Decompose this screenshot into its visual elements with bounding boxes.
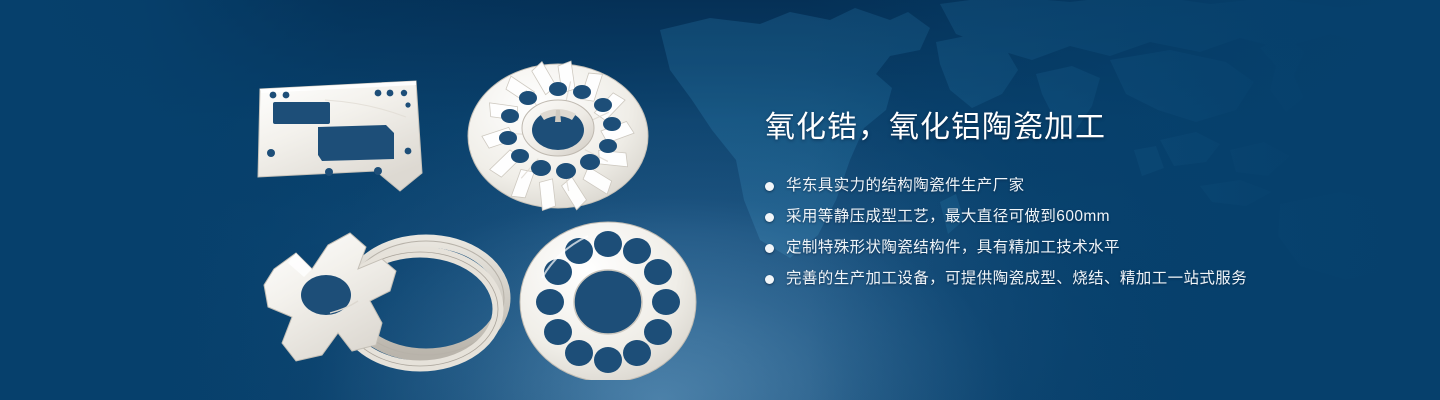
banner-copy: 氧化锆，氧化铝陶瓷加工 华东具实力的结构陶瓷件生产厂家 采用等静压成型工艺，最大… [765, 108, 1385, 298]
ceramic-products-image [230, 55, 700, 380]
bullet-dot-icon [765, 275, 774, 284]
ceramic-cross-and-rings-part [264, 233, 504, 366]
ceramic-plate-part [258, 81, 422, 191]
list-item-label: 采用等静压成型工艺，最大直径可做到600mm [786, 205, 1110, 229]
list-item-label: 定制特殊形状陶瓷结构件，具有精加工技术水平 [786, 236, 1120, 260]
bullet-dot-icon [765, 244, 774, 253]
list-item: 华东具实力的结构陶瓷件生产厂家 [765, 174, 1385, 198]
promo-banner: 氧化锆，氧化铝陶瓷加工 华东具实力的结构陶瓷件生产厂家 采用等静压成型工艺，最大… [0, 0, 1440, 400]
ceramic-perforated-disc-part [520, 222, 696, 380]
list-item: 采用等静压成型工艺，最大直径可做到600mm [765, 205, 1385, 229]
bullet-dot-icon [765, 182, 774, 191]
ceramic-impeller-part [468, 60, 648, 211]
list-item: 完善的生产加工设备，可提供陶瓷成型、烧结、精加工一站式服务 [765, 267, 1385, 291]
feature-list: 华东具实力的结构陶瓷件生产厂家 采用等静压成型工艺，最大直径可做到600mm 定… [765, 174, 1385, 291]
list-item-label: 华东具实力的结构陶瓷件生产厂家 [786, 174, 1025, 198]
page-title: 氧化锆，氧化铝陶瓷加工 [765, 108, 1385, 148]
bullet-dot-icon [765, 213, 774, 222]
list-item-label: 完善的生产加工设备，可提供陶瓷成型、烧结、精加工一站式服务 [786, 267, 1247, 291]
list-item: 定制特殊形状陶瓷结构件，具有精加工技术水平 [765, 236, 1385, 260]
